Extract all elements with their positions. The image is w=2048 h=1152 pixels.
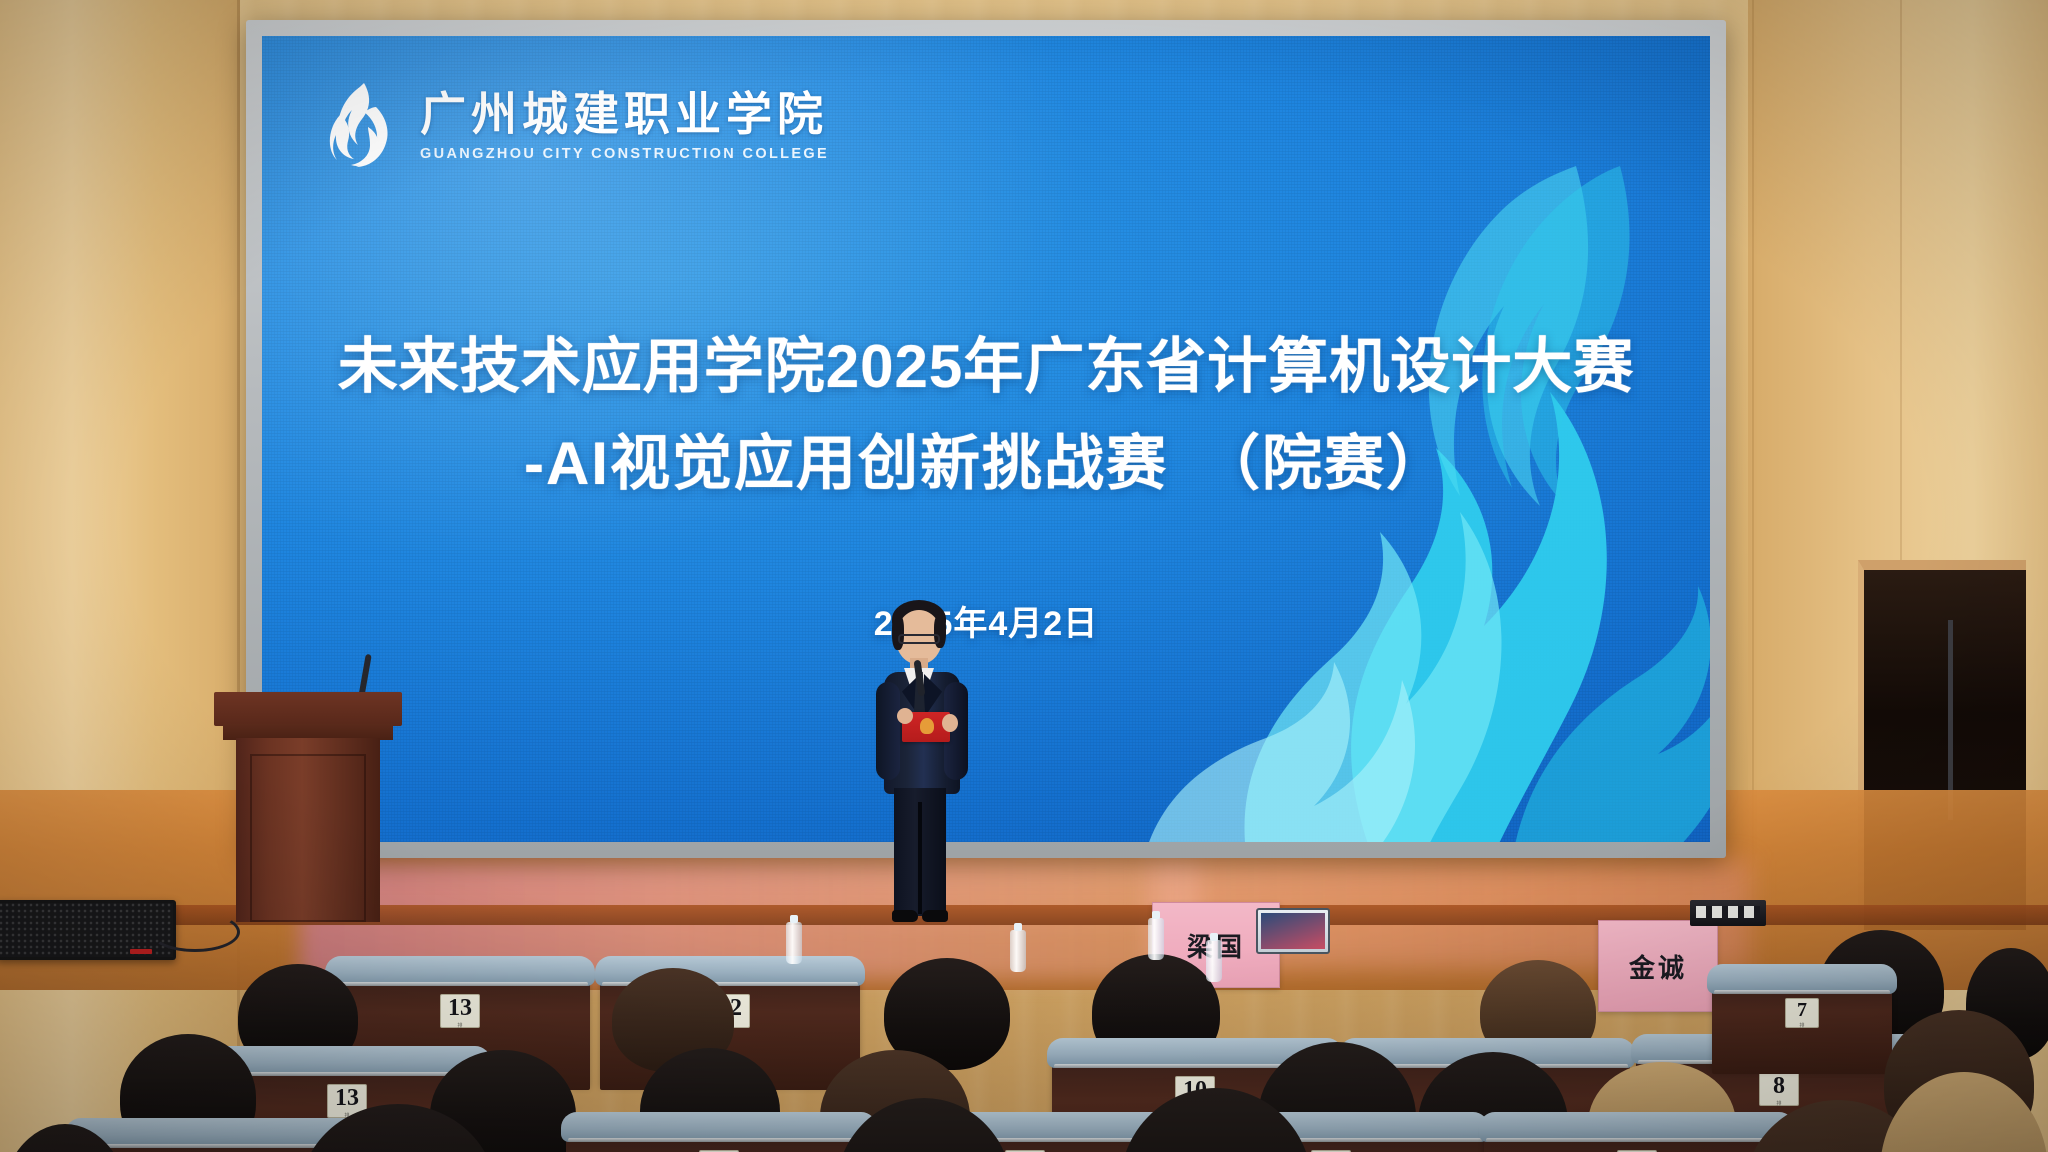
seat-chrome-trim: [568, 1138, 870, 1142]
water-bottle: [1148, 918, 1164, 960]
presenter-hand-right: [942, 714, 958, 732]
seat-number: 7: [1797, 999, 1807, 1022]
flame-logo-icon: [324, 81, 402, 171]
speaker-cable: [150, 912, 240, 952]
led-screen: 广州城建职业学院 GUANGZHOU CITY CONSTRUCTION COL…: [262, 36, 1710, 842]
seat-number: 13: [335, 1085, 359, 1112]
table-row[interactable]: 8 排: [1484, 1126, 1790, 1152]
seat-number-plate: 7 排: [1785, 998, 1819, 1028]
podium-top: [214, 692, 402, 726]
seat-chrome-trim: [332, 982, 588, 986]
open-laptop[interactable]: [1256, 908, 1330, 954]
presenter-hand-left: [897, 708, 913, 724]
seat-number-sub: 排: [457, 1022, 462, 1029]
seat-chrome-trim: [1486, 1138, 1788, 1142]
table-row[interactable]: 7 排: [1712, 978, 1892, 1074]
seat-number-plate: 13 排: [440, 994, 480, 1028]
slide-date: 2025年4月2日: [262, 596, 1710, 645]
speaker-brand-badge: [130, 949, 152, 954]
college-logo: 广州城建职业学院 GUANGZHOU CITY CONSTRUCTION COL…: [324, 81, 829, 171]
rack-buttons: [1696, 906, 1760, 918]
av-equipment-rack: [1690, 900, 1766, 926]
logo-en-name: GUANGZHOU CITY CONSTRUCTION COLLEGE: [420, 146, 829, 162]
seat-number: 13: [448, 995, 472, 1022]
logo-cn-name: 广州城建职业学院: [420, 90, 829, 138]
laptop-screen: [1261, 913, 1325, 949]
table-row[interactable]: 11 排: [566, 1126, 872, 1152]
presenter-glasses: [898, 634, 940, 644]
water-bottle: [786, 922, 802, 964]
water-bottle: [1010, 930, 1026, 972]
presenter-hair-side-left: [892, 614, 904, 650]
seat-chrome-trim: [1714, 990, 1890, 994]
seat-number-sub: 排: [1799, 1022, 1804, 1029]
screenshot-root: 广州城建职业学院 GUANGZHOU CITY CONSTRUCTION COL…: [0, 0, 2048, 1152]
seat-number: 8: [1773, 1073, 1785, 1100]
seat-number-plate: 8 排: [1759, 1072, 1799, 1106]
water-bottle: [1206, 940, 1222, 982]
seat-number-sub: 排: [1776, 1100, 1781, 1107]
